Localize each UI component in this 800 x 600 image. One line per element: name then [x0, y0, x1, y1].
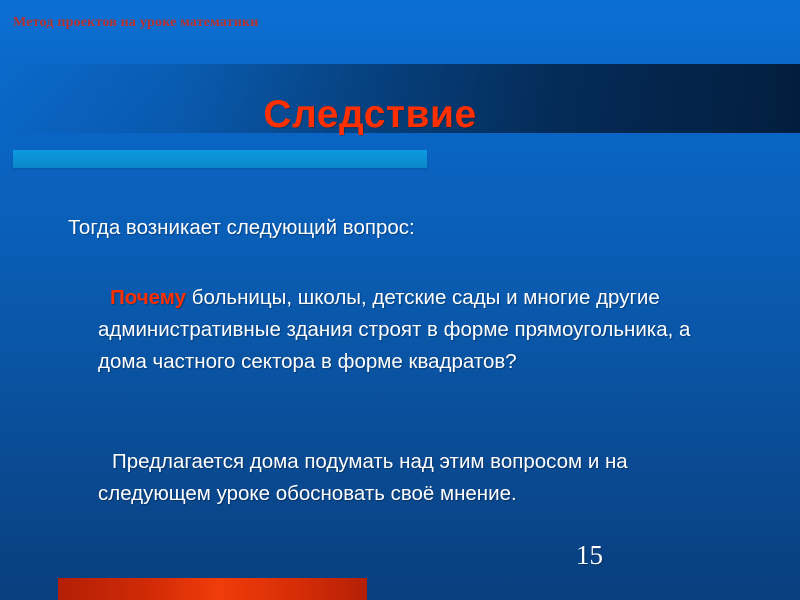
paragraph-homework: Предлагается дома подумать над этим вопр… [98, 446, 723, 510]
page-number: 15 [576, 540, 603, 571]
paragraph-intro: Тогда возникает следующий вопрос: [68, 212, 708, 244]
question-body-text: больницы, школы, детские сады и многие д… [98, 286, 690, 373]
bottom-accent-bar [58, 578, 367, 600]
question-highlight-word: Почему [110, 286, 186, 309]
slide-title: Следствие [0, 93, 800, 137]
paragraph-question: Почему больницы, школы, детские сады и м… [98, 282, 708, 378]
slide-header-note: Метод проектов на уроке математики [13, 15, 259, 31]
title-accent-bar [13, 150, 427, 168]
slide-body: Тогда возникает следующий вопрос: Почему… [0, 198, 800, 538]
presentation-slide: Метод проектов на уроке математики Следс… [0, 0, 800, 600]
